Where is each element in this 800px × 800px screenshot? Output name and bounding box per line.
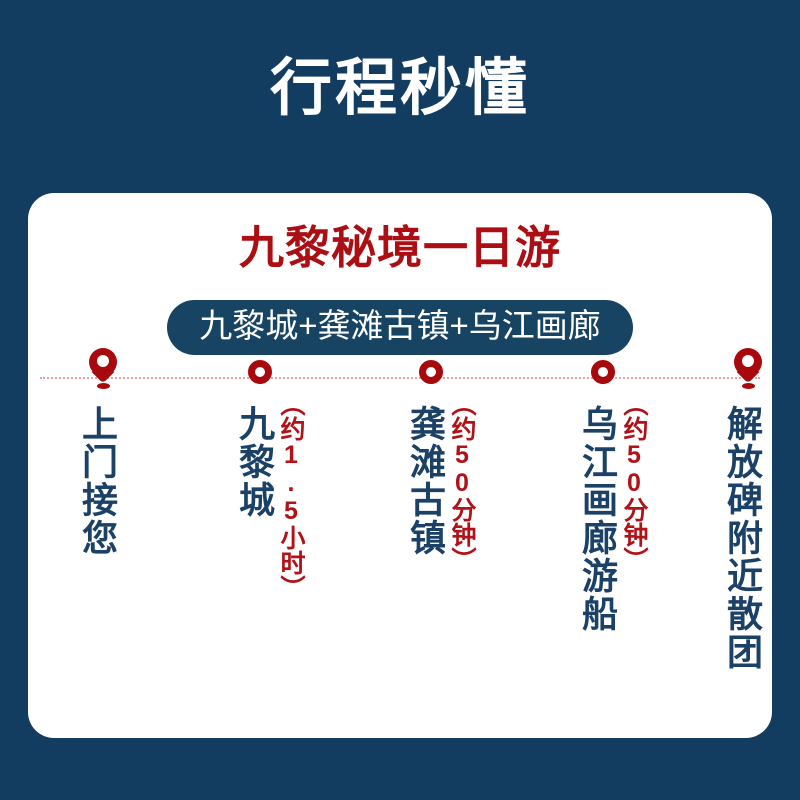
ring-dot-icon [248, 360, 272, 384]
stop-name: 上门接您 [77, 405, 117, 557]
page-title: 行程秒懂 [0, 52, 800, 126]
timeline-dotted-line [40, 377, 760, 379]
map-pin-icon [734, 348, 762, 388]
stop-duration: （约1.5小时） [277, 391, 304, 600]
stop-labels: 上门接您 [77, 405, 117, 557]
stop-name: 龚滩古镇 [405, 405, 445, 557]
stop-labels: 乌江画廊游船 （约50分钟） [577, 405, 647, 633]
itinerary-card: 九黎秘境一日游 九黎城+龚滩古镇+乌江画廊 上门接您 [28, 193, 772, 738]
timeline: 上门接您 九黎城 （约1.5小时） 龚滩古镇 （约50分钟） [28, 193, 772, 738]
stop-labels: 九黎城 （约1.5小时） [234, 405, 304, 600]
map-pin-icon [89, 348, 117, 388]
ring-dot-icon [419, 360, 443, 384]
stop-duration: （约50分钟） [620, 391, 647, 572]
stop-labels: 龚滩古镇 （约50分钟） [405, 405, 475, 572]
ring-dot-icon [591, 360, 615, 384]
stop-name: 乌江画廊游船 [577, 405, 617, 633]
stop-duration: （约50分钟） [448, 391, 475, 572]
stop-name: 九黎城 [234, 405, 274, 519]
stop-labels: 解放碑附近散团 [722, 405, 762, 671]
stop-name: 解放碑附近散团 [722, 405, 762, 671]
poster-root: 行程秒懂 九黎秘境一日游 九黎城+龚滩古镇+乌江画廊 上门接您 [0, 0, 800, 800]
